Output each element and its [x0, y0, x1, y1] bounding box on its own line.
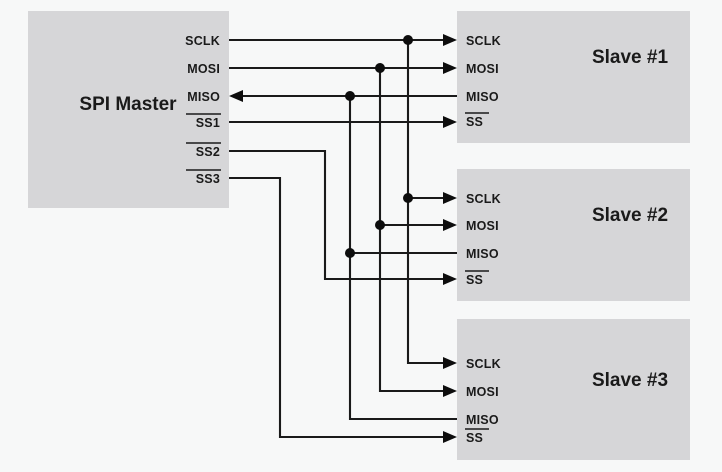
master-pin-sclk: SCLK	[185, 34, 220, 48]
spi-master-title: SPI Master	[79, 94, 177, 115]
master-pin-ss2: SS2	[196, 145, 220, 159]
slave-1-pin-ss: SS	[466, 115, 483, 129]
arrow-mosi-into-slave3	[443, 385, 457, 397]
arrow-mosi-into-slave2	[443, 219, 457, 231]
slave-2-pin-ss: SS	[466, 273, 483, 287]
wire-ss2	[229, 151, 445, 279]
junction-sclk-slave1	[403, 35, 413, 45]
junction-sclk-slave2	[403, 193, 413, 203]
junction-miso-slave2	[345, 248, 355, 258]
master-pin-mosi: MOSI	[187, 62, 220, 76]
slave-3-pin-ss: SS	[466, 431, 483, 445]
master-pin-miso: MISO	[187, 90, 220, 104]
slave-3-pin-mosi: MOSI	[466, 385, 499, 399]
arrow-sclk-into-slave2	[443, 192, 457, 204]
junction-mosi-slave2	[375, 220, 385, 230]
arrow-sclk-into-slave1	[443, 34, 457, 46]
slave-3-title: Slave #3	[592, 370, 668, 391]
arrow-sclk-into-slave3	[443, 357, 457, 369]
slave-1-title: Slave #1	[592, 47, 668, 68]
slave-2-title: Slave #2	[592, 205, 668, 226]
arrow-ss1-into-slave1	[443, 116, 457, 128]
slave-2-pin-miso: MISO	[466, 247, 499, 261]
arrow-miso-into-master	[229, 90, 243, 102]
slave-2-pin-sclk: SCLK	[466, 192, 501, 206]
junction-mosi-slave1	[375, 63, 385, 73]
slave-3-pin-sclk: SCLK	[466, 357, 501, 371]
spi-bus-diagram: SPI Master SCLK MOSI MISO SS1 SS2 SS3 Sl…	[0, 0, 722, 472]
slave-2-block	[457, 169, 690, 301]
slave-1-pin-mosi: MOSI	[466, 62, 499, 76]
slave-2-pin-mosi: MOSI	[466, 219, 499, 233]
arrow-ss3-into-slave3	[443, 431, 457, 443]
wire-ss3	[229, 178, 445, 437]
slave-1-pin-sclk: SCLK	[466, 34, 501, 48]
slave-3-pin-miso: MISO	[466, 413, 499, 427]
arrow-ss2-into-slave2	[443, 273, 457, 285]
master-pin-ss1: SS1	[196, 116, 220, 130]
slave-1-block	[457, 11, 690, 143]
wire-mosi-bus	[380, 68, 445, 391]
master-pin-ss3: SS3	[196, 172, 220, 186]
slave-1-pin-miso: MISO	[466, 90, 499, 104]
wire-miso-bus	[350, 96, 457, 419]
junction-miso-slave1	[345, 91, 355, 101]
diagram-canvas: SPI Master SCLK MOSI MISO SS1 SS2 SS3 Sl…	[0, 0, 722, 472]
arrow-mosi-into-slave1	[443, 62, 457, 74]
wire-sclk-bus	[408, 40, 445, 363]
